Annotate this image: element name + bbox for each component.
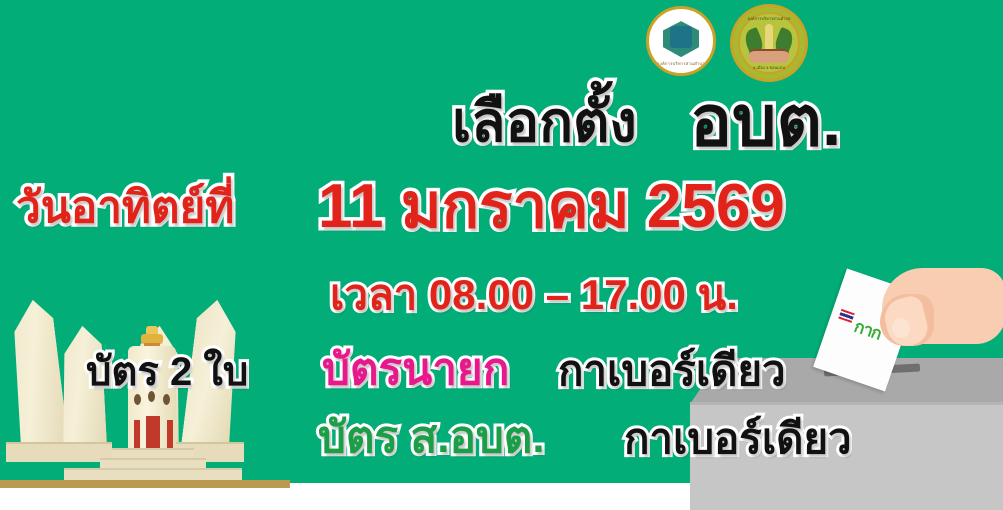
council-card-instruction: กาเบอร์เดียว <box>624 418 852 460</box>
left-emblem: องค์การบริหารส่วนตำบล <box>646 6 716 76</box>
council-card-label: บัตร ส.อบต. <box>318 416 545 460</box>
ballot-box-edge <box>690 402 1003 405</box>
right-emblem-ring-text-top: องค์การบริหารส่วนตำบล <box>733 16 805 21</box>
monument-door-center <box>146 416 160 448</box>
ballot-count-label: บัตร 2 ใบ <box>86 352 248 392</box>
headline-org-abbrev: อบต. <box>690 86 841 156</box>
date-weekday-prefix: วันอาทิตย์ที่ <box>16 186 234 230</box>
headline-election-word: เลือกตั้ง <box>452 94 637 150</box>
mayor-card-instruction: กาเบอร์เดียว <box>558 350 786 392</box>
date-value: 11 มกราคม 2569 <box>318 176 785 238</box>
monument-ground <box>0 480 290 488</box>
thai-flag-icon <box>838 309 854 323</box>
monument-door-left <box>134 420 140 448</box>
left-emblem-ring-text: องค์การบริหารส่วนตำบล <box>649 61 713 66</box>
right-emblem-ring-text-bottom: อ.เมือง จ.ขอนแก่น <box>733 65 805 70</box>
election-poster: องค์การบริหารส่วนตำบล องค์การบริหารส่วนต… <box>0 0 1003 510</box>
monument-door-right <box>167 420 173 448</box>
handshake-icon <box>749 49 789 63</box>
hand-illustration <box>878 258 1003 362</box>
monument-port-left <box>134 394 141 405</box>
right-emblem: องค์การบริหารส่วนตำบล อ.เมือง จ.ขอนแก่น <box>730 4 808 82</box>
monument-wing-far-left <box>3 298 69 451</box>
mayor-card-label: บัตรนายก <box>322 348 509 392</box>
time-line: เวลา 08.00 – 17.00 น. <box>330 274 738 316</box>
monument-port-right <box>163 394 170 405</box>
crest-inner-icon <box>670 26 692 48</box>
